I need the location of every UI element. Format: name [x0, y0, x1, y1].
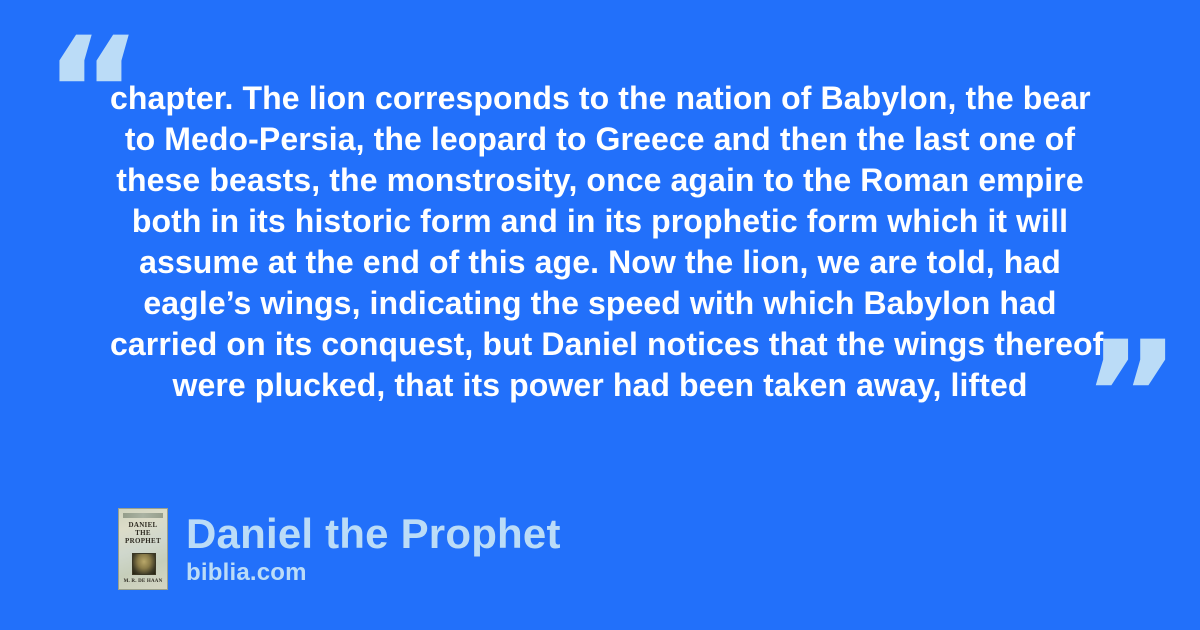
source-attribution: DANIEL THE PROPHET M. R. DE HAAN Daniel … — [118, 508, 561, 590]
quote-line: these beasts, the monstrosity, once agai… — [110, 160, 1090, 201]
book-cover-thumbnail: DANIEL THE PROPHET M. R. DE HAAN — [118, 508, 168, 590]
source-text-block: Daniel the Prophet biblia.com — [186, 511, 561, 587]
quote-line: eagle’s wings, indicating the speed with… — [110, 283, 1090, 324]
book-cover-author: M. R. DE HAAN — [120, 579, 166, 585]
quote-text: chapter. The lion corresponds to the nat… — [110, 78, 1090, 406]
quote-line: chapter. The lion corresponds to the nat… — [110, 78, 1090, 119]
quote-line: both in its historic form and in its pro… — [110, 201, 1090, 242]
close-quote-icon: ” — [1082, 322, 1181, 472]
book-title: Daniel the Prophet — [186, 511, 561, 557]
quote-card: “ chapter. The lion corresponds to the n… — [0, 0, 1200, 630]
quote-line: assume at the end of this age. Now the l… — [110, 242, 1090, 283]
site-name: biblia.com — [186, 559, 561, 587]
book-cover-top-band — [123, 513, 163, 518]
quote-line: were plucked, that its power had been ta… — [110, 365, 1090, 406]
book-cover-title: DANIEL THE PROPHET — [121, 521, 165, 545]
quote-line: carried on its conquest, but Daniel noti… — [110, 324, 1090, 365]
book-cover-portrait — [132, 553, 156, 575]
quote-line: to Medo-Persia, the leopard to Greece an… — [110, 119, 1090, 160]
